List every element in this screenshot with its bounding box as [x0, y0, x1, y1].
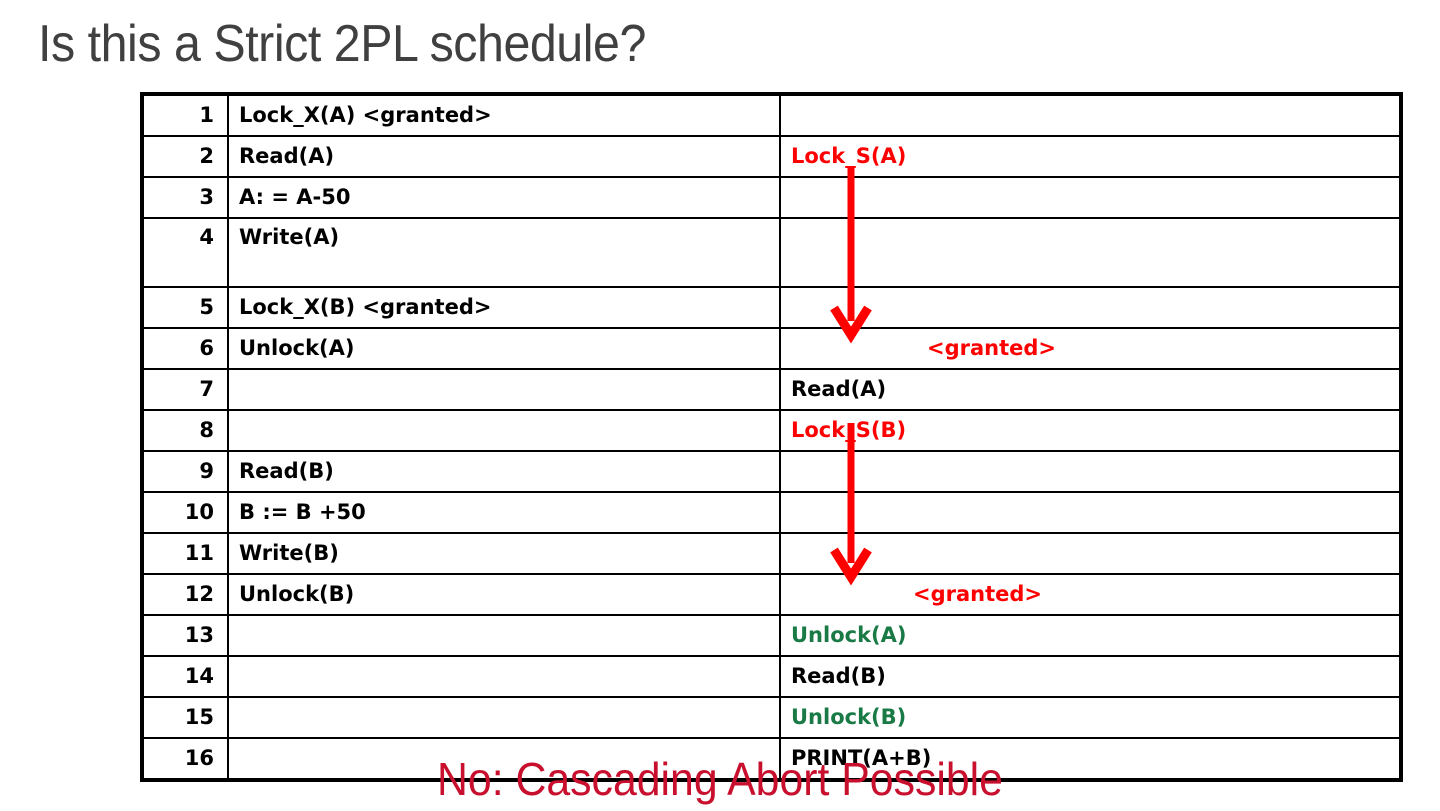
table-row: 15Unlock(B) [142, 697, 1401, 738]
table-row: 11Write(B) [142, 533, 1401, 574]
transaction-2-cell [780, 94, 1401, 136]
table-row: 3A: = A-50 [142, 177, 1401, 218]
row-number: 12 [142, 574, 228, 615]
transaction-2-cell [780, 492, 1401, 533]
row-number: 2 [142, 136, 228, 177]
page-title: Is this a Strict 2PL schedule? [38, 14, 646, 74]
table-row: 9Read(B) [142, 451, 1401, 492]
transaction-2-cell: <granted> [780, 328, 1401, 369]
transaction-1-cell: Write(B) [228, 533, 780, 574]
transaction-2-cell [780, 177, 1401, 218]
transaction-2-cell: Lock_S(B) [780, 410, 1401, 451]
transaction-2-operation: Lock_S(B) [791, 418, 906, 442]
row-number: 6 [142, 328, 228, 369]
row-number: 7 [142, 369, 228, 410]
transaction-2-operation: Lock_S(A) [791, 144, 906, 168]
transaction-2-cell [780, 287, 1401, 328]
transaction-2-cell [780, 533, 1401, 574]
table-row: 14Read(B) [142, 656, 1401, 697]
transaction-2-operation: Read(B) [791, 664, 886, 688]
transaction-1-cell [228, 369, 780, 410]
table-row: 1Lock_X(A) <granted> [142, 94, 1401, 136]
transaction-1-cell: Write(A) [228, 218, 780, 287]
row-number: 4 [142, 218, 228, 287]
row-number: 11 [142, 533, 228, 574]
transaction-2-operation: Unlock(B) [791, 705, 906, 729]
transaction-2-cell: <granted> [780, 574, 1401, 615]
transaction-2-cell: Read(B) [780, 656, 1401, 697]
transaction-1-cell [228, 615, 780, 656]
row-number: 14 [142, 656, 228, 697]
row-number: 3 [142, 177, 228, 218]
transaction-2-cell: Unlock(B) [780, 697, 1401, 738]
row-number: 10 [142, 492, 228, 533]
row-number: 9 [142, 451, 228, 492]
row-number: 15 [142, 697, 228, 738]
transaction-2-cell: Unlock(A) [780, 615, 1401, 656]
transaction-2-cell: Read(A) [780, 369, 1401, 410]
table-row: 2Read(A)Lock_S(A) [142, 136, 1401, 177]
table-row: 5Lock_X(B) <granted> [142, 287, 1401, 328]
table-row: 12Unlock(B)<granted> [142, 574, 1401, 615]
transaction-1-cell [228, 656, 780, 697]
table-row: 7Read(A) [142, 369, 1401, 410]
transaction-1-cell [228, 697, 780, 738]
row-number: 1 [142, 94, 228, 136]
row-number: 13 [142, 615, 228, 656]
conclusion-caption: No: Cascading Abort Possible [50, 752, 1389, 806]
transaction-1-cell: Lock_X(B) <granted> [228, 287, 780, 328]
transaction-2-cell [780, 451, 1401, 492]
row-number: 5 [142, 287, 228, 328]
transaction-2-operation: Unlock(A) [791, 623, 907, 647]
table-row: 4Write(A) [142, 218, 1401, 287]
transaction-2-operation: Read(A) [791, 377, 886, 401]
granted-label: <granted> [927, 337, 1056, 359]
transaction-2-cell [780, 218, 1401, 287]
transaction-1-cell: Unlock(B) [228, 574, 780, 615]
transaction-1-cell: B := B +50 [228, 492, 780, 533]
row-number: 8 [142, 410, 228, 451]
transaction-2-cell: Lock_S(A) [780, 136, 1401, 177]
schedule-table-container: 1Lock_X(A) <granted>2Read(A)Lock_S(A)3A:… [140, 92, 1366, 782]
transaction-1-cell: Unlock(A) [228, 328, 780, 369]
table-row: 13Unlock(A) [142, 615, 1401, 656]
transaction-1-cell: Lock_X(A) <granted> [228, 94, 780, 136]
table-row: 6Unlock(A)<granted> [142, 328, 1401, 369]
transaction-1-cell: Read(B) [228, 451, 780, 492]
transaction-1-cell [228, 410, 780, 451]
granted-label: <granted> [913, 583, 1042, 605]
schedule-table: 1Lock_X(A) <granted>2Read(A)Lock_S(A)3A:… [140, 92, 1403, 782]
transaction-1-cell: A: = A-50 [228, 177, 780, 218]
table-row: 8Lock_S(B) [142, 410, 1401, 451]
transaction-1-cell: Read(A) [228, 136, 780, 177]
table-row: 10B := B +50 [142, 492, 1401, 533]
